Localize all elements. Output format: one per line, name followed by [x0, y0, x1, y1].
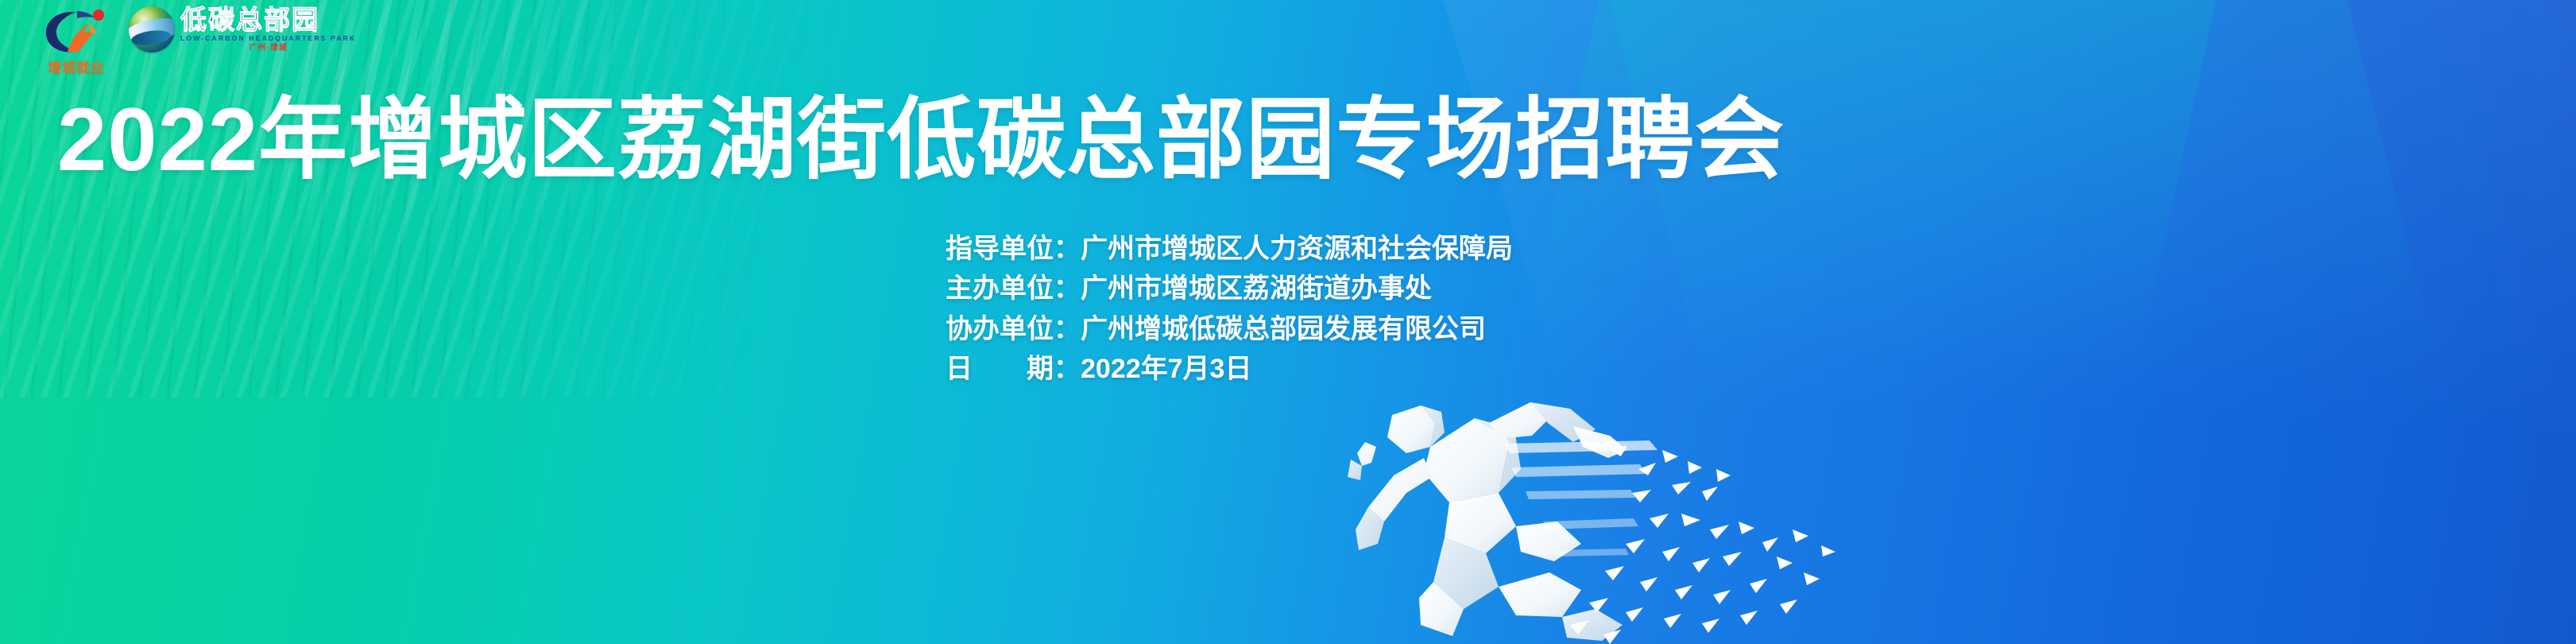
park-name-cn: 低碳总部园 — [180, 6, 356, 33]
zengcheng-employment-icon — [40, 6, 113, 56]
low-carbon-park-icon — [129, 6, 175, 52]
zengcheng-employment-label: 增城就业 — [35, 56, 118, 76]
info-value-2: 广州增城低碳总部园发展有限公司 — [1081, 314, 1486, 344]
info-row: 协办单位：广州增城低碳总部园发展有限公司 — [946, 309, 1513, 349]
recruitment-banner: 增城就业 低碳总部园 LOW-CARBON HEADQUARTERS PARK … — [0, 0, 2576, 644]
park-name-en: LOW-CARBON HEADQUARTERS PARK — [180, 35, 356, 42]
info-label-2: 协办单位： — [946, 309, 1081, 349]
info-value-0: 广州市增城区人力资源和社会保障局 — [1081, 234, 1513, 264]
organizer-info: 指导单位：广州市增城区人力资源和社会保障局 主办单位：广州市增城区荔湖街道办事处… — [946, 229, 1513, 389]
page-title: 2022年增城区荔湖街低碳总部园专场招聘会 — [57, 95, 1785, 184]
low-carbon-park-logo: 低碳总部园 LOW-CARBON HEADQUARTERS PARK 广州·增城 — [129, 6, 356, 52]
logo-row: 增城就业 低碳总部园 LOW-CARBON HEADQUARTERS PARK … — [35, 6, 356, 76]
ribbon-pink — [0, 383, 1269, 644]
info-label-0: 指导单位： — [946, 229, 1081, 269]
info-row: 指导单位：广州市增城区人力资源和社会保障局 — [946, 229, 1513, 269]
info-row: 主办单位：广州市增城区荔湖街道办事处 — [946, 269, 1513, 308]
info-label-1: 主办单位： — [946, 269, 1081, 308]
info-value-3: 2022年7月3日 — [1081, 354, 1251, 384]
park-location: 广州·增城 — [180, 45, 356, 52]
info-value-1: 广州市增城区荔湖街道办事处 — [1081, 274, 1432, 304]
info-row: 日 期：2022年7月3日 — [946, 349, 1513, 389]
info-label-3: 日 期： — [946, 349, 1081, 389]
zengcheng-employment-logo: 增城就业 — [35, 6, 118, 76]
runner-shatter-particles — [1570, 445, 1835, 644]
running-figure-graphic — [1236, 374, 1840, 644]
